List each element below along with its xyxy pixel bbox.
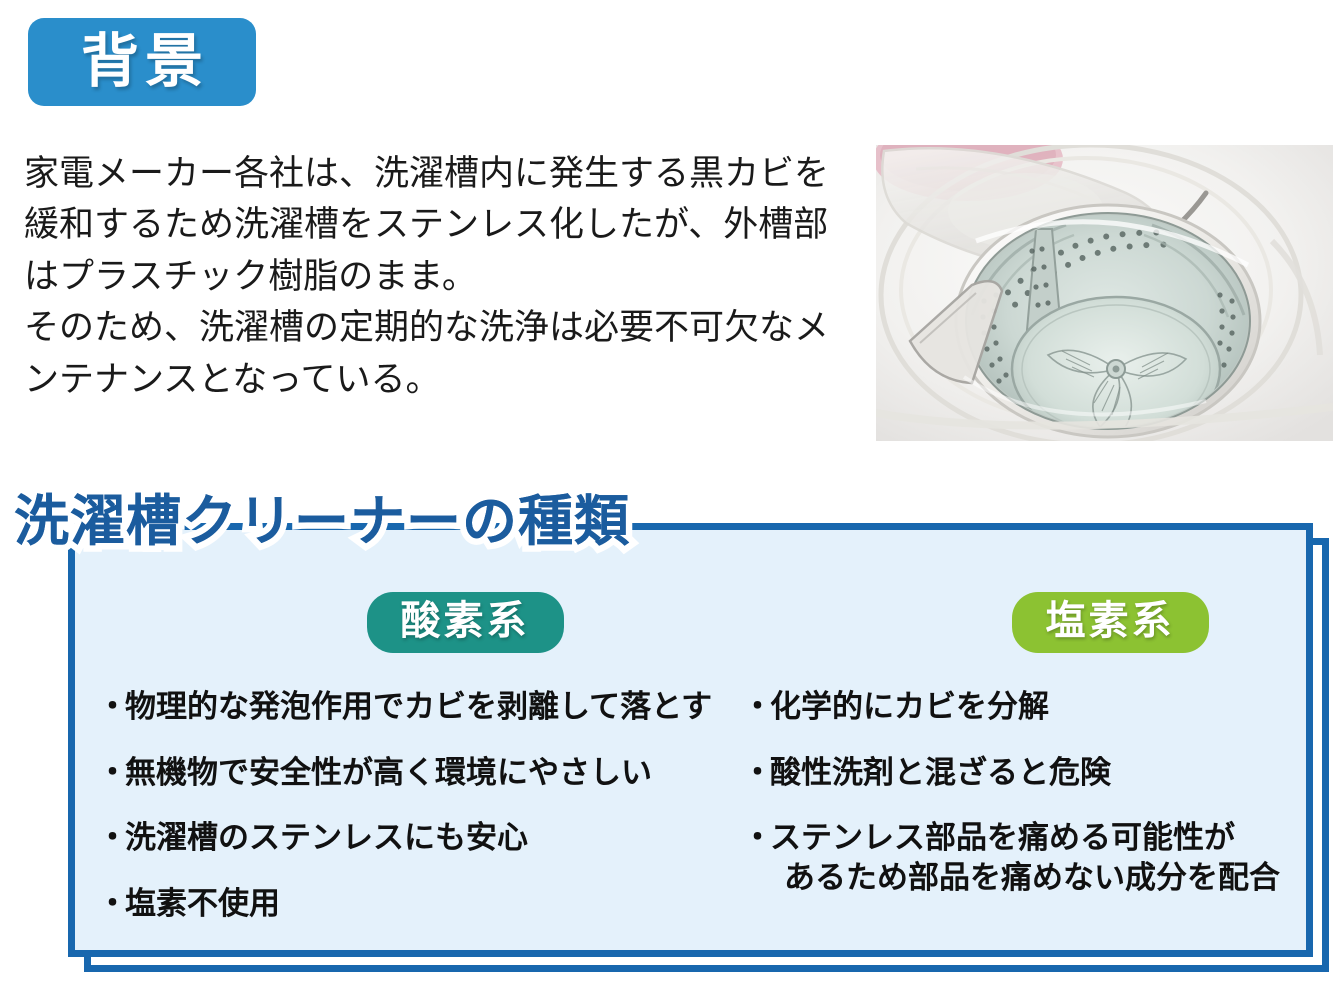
background-paragraph: 家電メーカー各社は、洗濯槽内に発生する黒カビを 緩和するため洗濯槽をステンレス化… bbox=[24, 148, 864, 405]
bullet-dot-icon: ・ bbox=[97, 753, 128, 793]
chlorine-category-badge: 塩素系 bbox=[1012, 592, 1209, 653]
bullet-text: 洗濯槽のステンレスにも安心 bbox=[125, 820, 528, 855]
bullet-dot-icon: ・ bbox=[97, 818, 128, 858]
bullet-text: ステンレス部品を痛める可能性が bbox=[770, 820, 1235, 855]
oxygen-badge-row: 酸素系 bbox=[95, 592, 715, 653]
list-item: ・ 化学的にカビを分解 bbox=[740, 687, 1320, 727]
bullet-dot-icon: ・ bbox=[97, 687, 128, 727]
oxygen-type-column: 酸素系 ・ 物理的な発泡作用でカビを剥離して落とす ・ 無機物で安全性が高く環境… bbox=[95, 592, 715, 950]
washing-machine-photo bbox=[876, 145, 1333, 441]
types-title: 洗濯槽クリーナーの種類 bbox=[14, 494, 630, 549]
list-item: ・ 無機物で安全性が高く環境にやさしい bbox=[95, 753, 715, 793]
list-item: ・ 塩素不使用 bbox=[95, 884, 715, 924]
washing-machine-illustration bbox=[876, 145, 1333, 441]
chlorine-type-column: 塩素系 ・ 化学的にカビを分解 ・ 酸性洗剤と混ざると危険 ・ ステンレス部品を… bbox=[740, 592, 1320, 924]
chlorine-bullet-list: ・ 化学的にカビを分解 ・ 酸性洗剤と混ざると危険 ・ ステンレス部品を痛める可… bbox=[740, 687, 1320, 898]
bullet-text: 物理的な発泡作用でカビを剥離して落とす bbox=[125, 689, 712, 724]
background-badge-label: 背景 bbox=[75, 33, 209, 91]
background-paragraph-line: 緩和するため洗濯槽をステンレス化したが、外槽部 bbox=[24, 199, 864, 250]
bullet-dot-icon: ・ bbox=[742, 818, 773, 858]
bullet-dot-icon: ・ bbox=[97, 884, 128, 924]
bullet-text: 酸性洗剤と混ざると危険 bbox=[770, 755, 1111, 790]
infographic-page: 背景 家電メーカー各社は、洗濯槽内に発生する黒カビを 緩和するため洗濯槽をステン… bbox=[0, 0, 1333, 996]
list-item: ・ 洗濯槽のステンレスにも安心 bbox=[95, 818, 715, 858]
bullet-text: 無機物で安全性が高く環境にやさしい bbox=[125, 755, 652, 790]
list-item: ・ ステンレス部品を痛める可能性が あるため部品を痛めない成分を配合 bbox=[740, 818, 1320, 897]
list-item: ・ 酸性洗剤と混ざると危険 bbox=[740, 753, 1320, 793]
bullet-text: 化学的にカビを分解 bbox=[770, 689, 1049, 724]
background-paragraph-line: そのため、洗濯槽の定期的な洗浄は必要不可欠なメ bbox=[24, 302, 864, 353]
bullet-text-continuation: あるため部品を痛めない成分を配合 bbox=[770, 858, 1320, 898]
oxygen-bullet-list: ・ 物理的な発泡作用でカビを剥離して落とす ・ 無機物で安全性が高く環境にやさし… bbox=[95, 687, 715, 924]
bullet-dot-icon: ・ bbox=[742, 753, 773, 793]
chlorine-badge-row: 塩素系 bbox=[740, 592, 1320, 653]
list-item: ・ 物理的な発泡作用でカビを剥離して落とす bbox=[95, 687, 715, 727]
oxygen-category-badge: 酸素系 bbox=[367, 592, 564, 653]
background-paragraph-line: ンテナンスとなっている。 bbox=[24, 354, 864, 405]
bullet-dot-icon: ・ bbox=[742, 687, 773, 727]
background-paragraph-line: 家電メーカー各社は、洗濯槽内に発生する黒カビを bbox=[24, 148, 864, 199]
background-paragraph-line: はプラスチック樹脂のまま。 bbox=[24, 251, 864, 302]
background-section-badge: 背景 bbox=[28, 18, 256, 106]
bullet-text: 塩素不使用 bbox=[125, 886, 280, 921]
